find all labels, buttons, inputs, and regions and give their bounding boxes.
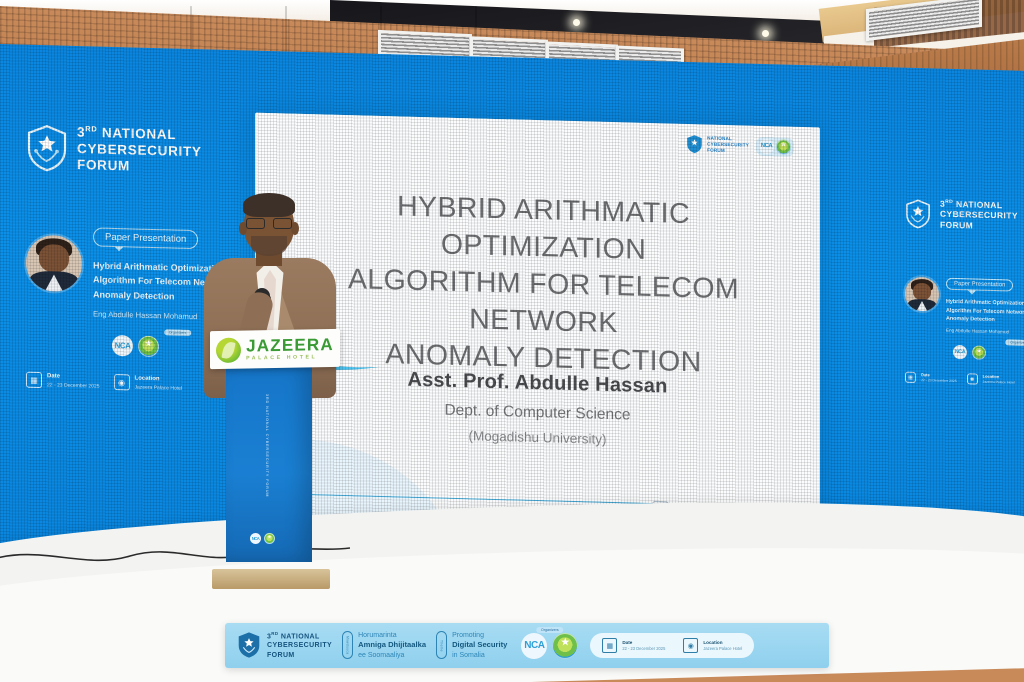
nca-logo: NCA <box>250 533 261 544</box>
nca-logo: NCA <box>521 633 547 659</box>
speaker-headshot-left <box>26 235 82 292</box>
national-emblem-icon: ★ <box>138 335 159 357</box>
banner-location-block: ◉ LocationJazeera Palace Hotel <box>683 638 742 653</box>
pin-icon: ◉ <box>967 374 978 385</box>
banner-theme-somali-text: Horumarinta Amniga Dhijitaalka ee Soomaa… <box>358 631 426 659</box>
date-block-right: ▦ Date22 - 23 December 2025 <box>905 372 957 385</box>
slide-title: HYBRID ARITHMATIC OPTIMIZATION ALGORITHM… <box>301 186 786 384</box>
podium-hotel-sign: JAZEERA PALACE HOTEL <box>210 329 340 369</box>
organizer-logos-right: Organizers NCA ★ <box>953 345 1024 362</box>
bottom-event-banner: 3RD NATIONAL CYBERSECURITY FORUM Mowduuc… <box>225 623 829 668</box>
banner-date-block: ▦ Date22 - 23 December 2025 <box>602 638 665 653</box>
location-block-left: ◉ LocationJazeera Palace Hotel <box>114 374 183 393</box>
speaker-headshot-right <box>905 277 939 312</box>
slide-top-logos: NATIONAL CYBERSECURITY FORUM NCA ★ <box>686 134 794 157</box>
banner-theme-english: Theme Promoting Digital Security in Soma… <box>436 631 507 659</box>
banner-forum-text: 3RD NATIONAL CYBERSECURITY FORUM <box>267 631 332 661</box>
theme-chip-somali: Mowduuca <box>342 631 353 659</box>
downlight <box>762 30 769 37</box>
banner-event-details: ▦ Date22 - 23 December 2025 ◉ LocationJa… <box>590 633 754 658</box>
forum-logo-small-text: NATIONAL CYBERSECURITY FORUM <box>707 135 749 155</box>
shield-icon <box>26 124 68 173</box>
national-emblem-icon: ★ <box>264 533 275 544</box>
national-emblem-icon: ★ <box>776 139 791 154</box>
forum-brand-text-left: 3RD NATIONAL CYBERSECURITY FORUM <box>77 124 202 177</box>
slide-organizer-logos: NCA ★ <box>756 136 794 156</box>
backdrop-right-panel: 3RD NATIONAL CYBERSECURITY FORUM Paper P… <box>905 198 1024 389</box>
speaker-credit-right: Eng Abdulle Hassan Mohamud <box>946 328 1024 336</box>
downlight <box>573 19 580 26</box>
nca-logo: NCA <box>112 335 133 357</box>
forum-brand-right: 3RD NATIONAL CYBERSECURITY FORUM <box>905 198 1024 234</box>
nca-logo: NCA <box>759 138 774 153</box>
national-emblem-icon: ★ <box>552 633 578 659</box>
forum-logo-small: NATIONAL CYBERSECURITY FORUM <box>686 134 749 156</box>
pin-icon: ◉ <box>683 638 698 653</box>
shield-icon <box>237 631 261 659</box>
paper-presentation-pill-left: Paper Presentation <box>93 227 198 249</box>
national-emblem-icon: ★ <box>972 345 986 359</box>
nca-logo: NCA <box>953 345 967 359</box>
paper-presentation-pill-right: Paper Presentation <box>946 278 1013 292</box>
podium-hotel-name: JAZEERA PALACE HOTEL <box>246 336 334 362</box>
calendar-icon: ▦ <box>26 372 42 388</box>
forum-brand-text-right: 3RD NATIONAL CYBERSECURITY FORUM <box>940 199 1018 232</box>
event-details-right: ▦ Date22 - 23 December 2025 ◉ LocationJa… <box>905 372 1024 389</box>
paper-title-right: Hybrid Arithmatic Optimization Algorithm… <box>946 298 1024 327</box>
location-block-right: ◉ LocationJazeera Palace Hotel <box>967 373 1015 386</box>
podium-vertical-text: 3RD NATIONAL CYBERSECURITY FORUM <box>264 394 270 497</box>
podium-base <box>212 569 330 589</box>
date-block-left: ▦ Date22 - 23 December 2025 <box>26 371 100 391</box>
speaker-beard <box>251 236 287 256</box>
forum-brand-left: 3RD NATIONAL CYBERSECURITY FORUM <box>26 123 243 179</box>
speaker-glasses <box>246 218 292 227</box>
podium: 3RD NATIONAL CYBERSECURITY FORUM NCA ★ J… <box>222 330 327 575</box>
banner-forum-brand: 3RD NATIONAL CYBERSECURITY FORUM <box>237 631 332 661</box>
pin-icon: ◉ <box>114 374 130 390</box>
speaker-hair <box>243 193 295 217</box>
banner-organizer-logos: Organizers NCA ★ <box>521 633 578 659</box>
jazeera-leaf-logo-icon <box>216 337 241 362</box>
shield-icon <box>905 198 931 229</box>
calendar-icon: ▦ <box>602 638 617 653</box>
speaker-ear <box>291 222 299 235</box>
conference-photo-scene: 3RD NATIONAL CYBERSECURITY FORUM Paper P… <box>0 0 1024 682</box>
theme-chip-english: Theme <box>436 631 447 659</box>
shield-icon <box>686 134 703 154</box>
podium-front-panel: 3RD NATIONAL CYBERSECURITY FORUM NCA ★ <box>226 366 312 562</box>
calendar-icon: ▦ <box>905 372 916 383</box>
banner-theme-somali: Mowduuca Horumarinta Amniga Dhijitaalka … <box>342 631 426 659</box>
banner-theme-english-text: Promoting Digital Security in Somalia <box>452 631 507 659</box>
